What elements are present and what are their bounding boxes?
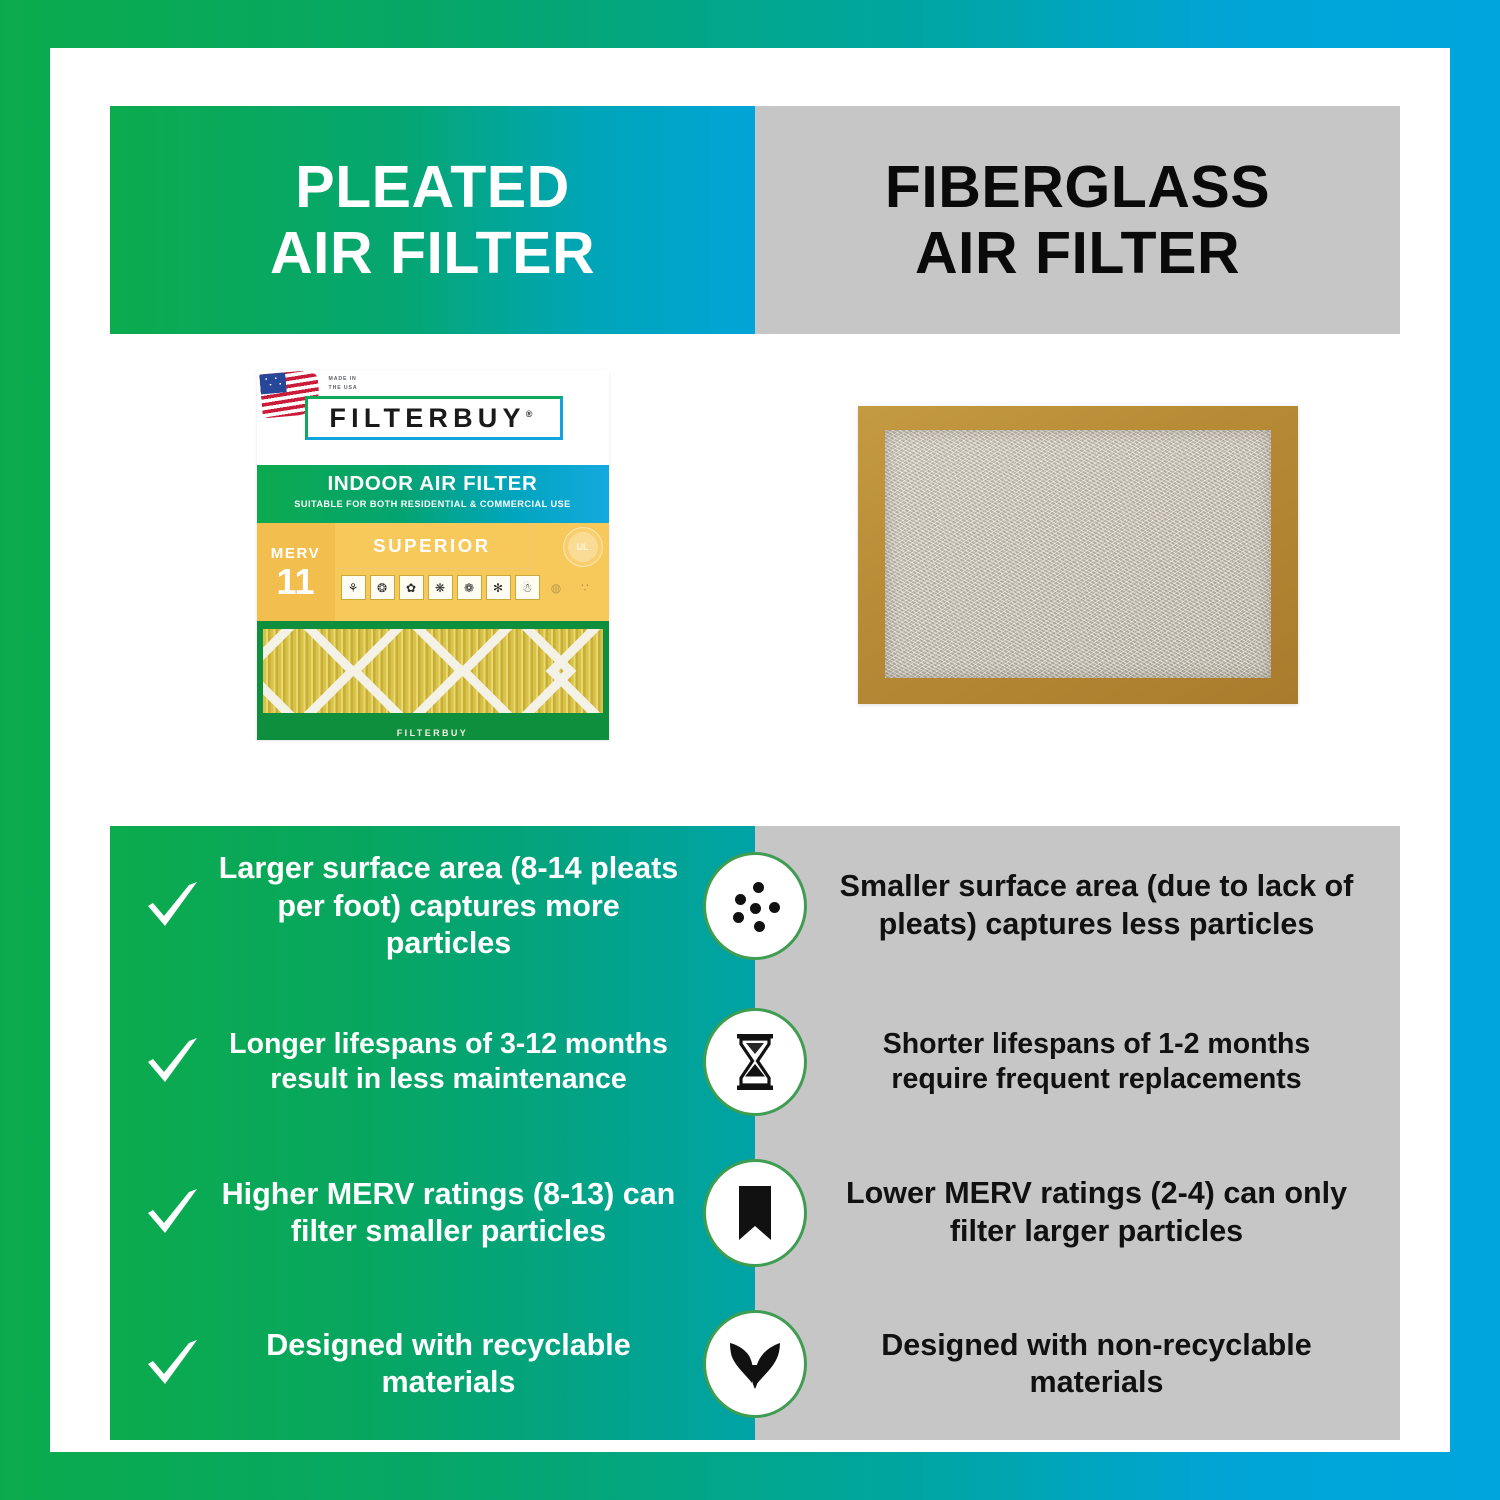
mold-spore-icon: ❋ bbox=[428, 575, 453, 600]
headers-row: PLEATED AIR FILTER FIBERGLASS AIR FILTER bbox=[110, 106, 1400, 334]
dots-group bbox=[723, 876, 787, 936]
capture-icons-row: ⚘ ❂ ✿ ❋ ❁ ✻ ☃ ◍ ∵ bbox=[341, 575, 598, 600]
leaf-sprout-icon bbox=[703, 1310, 807, 1418]
row1-fiberglass-cell: Smaller surface area (due to lack of ple… bbox=[755, 826, 1400, 986]
leaf-glyph bbox=[726, 1337, 784, 1391]
row4-fiberglass-cell: Designed with non-recyclable materials bbox=[755, 1289, 1400, 1440]
hourglass-glyph bbox=[732, 1032, 778, 1092]
outer-gradient-frame: PLEATED AIR FILTER FIBERGLASS AIR FILTER… bbox=[0, 0, 1500, 1500]
bacteria-icon: ❁ bbox=[457, 575, 482, 600]
pleated-media bbox=[263, 629, 603, 713]
pollen-icon: ✿ bbox=[399, 575, 424, 600]
fiberglass-product-cell bbox=[755, 334, 1400, 776]
grid-diamond bbox=[348, 629, 467, 713]
header-pleated-title: PLEATED AIR FILTER bbox=[270, 154, 595, 286]
package-spec-area: MERV 11 SUPERIOR UL ⚘ ❂ ✿ ❋ ❁ ✻ ☃ bbox=[257, 523, 609, 621]
table-row: Larger surface area (8-14 pleats per foo… bbox=[110, 826, 1400, 986]
merv-label: MERV bbox=[271, 545, 320, 562]
row3-pleated-text: Higher MERV ratings (8-13) can filter sm… bbox=[214, 1176, 683, 1250]
table-row: Designed with recyclable materials Desig… bbox=[110, 1289, 1400, 1440]
table-row: Higher MERV ratings (8-13) can filter sm… bbox=[110, 1138, 1400, 1289]
certification-seal-icon: UL bbox=[563, 527, 603, 567]
row4-pleated-cell: Designed with recyclable materials bbox=[110, 1289, 755, 1440]
row1-pleated-text: Larger surface area (8-14 pleats per foo… bbox=[214, 850, 683, 962]
fiberglass-filter-image bbox=[858, 406, 1298, 704]
brand-logo-text: FILTERBUY® bbox=[329, 403, 537, 434]
header-fiberglass: FIBERGLASS AIR FILTER bbox=[755, 106, 1400, 334]
product-images-row: MADE IN THE USA FILTERBUY® INDOOR AIR FI… bbox=[110, 334, 1400, 776]
row4-fiberglass-text: Designed with non-recyclable materials bbox=[833, 1327, 1360, 1403]
support-grid bbox=[263, 629, 603, 713]
particles-dots-icon bbox=[703, 852, 807, 960]
checkmark-icon bbox=[136, 876, 208, 936]
row3-pleated-cell: Higher MERV ratings (8-13) can filter sm… bbox=[110, 1138, 755, 1289]
package-footer-brand: FILTERBUY bbox=[257, 728, 609, 738]
package-subtitle: SUITABLE FOR BOTH RESIDENTIAL & COMMERCI… bbox=[257, 499, 609, 509]
table-row: Longer lifespans of 3-12 months result i… bbox=[110, 986, 1400, 1137]
bookmark-glyph bbox=[735, 1184, 775, 1242]
odor-icon: ∵ bbox=[573, 575, 598, 600]
checkmark-icon bbox=[136, 1183, 208, 1243]
row2-pleated-text: Longer lifespans of 3-12 months result i… bbox=[214, 1027, 683, 1097]
fiberglass-media bbox=[885, 430, 1271, 678]
pleated-product-cell: MADE IN THE USA FILTERBUY® INDOOR AIR FI… bbox=[110, 334, 755, 776]
row3-fiberglass-cell: Lower MERV ratings (2-4) can only filter… bbox=[755, 1138, 1400, 1289]
grid-diamond bbox=[545, 629, 602, 713]
pleated-filter-package-image: MADE IN THE USA FILTERBUY® INDOOR AIR FI… bbox=[257, 370, 609, 740]
virus-icon: ◍ bbox=[544, 575, 569, 600]
package-header-area: MADE IN THE USA FILTERBUY® bbox=[257, 370, 609, 465]
brand-logo-box: FILTERBUY® bbox=[305, 396, 563, 440]
row1-pleated-cell: Larger surface area (8-14 pleats per foo… bbox=[110, 826, 755, 986]
filter-media-preview: FILTERBUY bbox=[257, 621, 609, 740]
merv-badge: MERV 11 bbox=[257, 523, 335, 621]
made-in-usa-label: MADE IN THE USA bbox=[329, 375, 358, 393]
merv-value: 11 bbox=[276, 564, 314, 600]
row1-fiberglass-text: Smaller surface area (due to lack of ple… bbox=[833, 868, 1360, 944]
row3-fiberglass-text: Lower MERV ratings (2-4) can only filter… bbox=[833, 1175, 1360, 1251]
infographic-canvas: PLEATED AIR FILTER FIBERGLASS AIR FILTER… bbox=[50, 48, 1450, 1452]
package-title: INDOOR AIR FILTER bbox=[257, 472, 609, 496]
checkmark-icon bbox=[136, 1032, 208, 1092]
bookmark-ribbon-icon bbox=[703, 1159, 807, 1267]
grid-diamond bbox=[263, 629, 358, 713]
comparison-table: Larger surface area (8-14 pleats per foo… bbox=[110, 826, 1400, 1440]
checkmark-icon bbox=[136, 1334, 208, 1394]
hourglass-icon bbox=[703, 1008, 807, 1116]
row2-fiberglass-text: Shorter lifespans of 1-2 months require … bbox=[833, 1027, 1360, 1098]
package-title-band: INDOOR AIR FILTER SUITABLE FOR BOTH RESI… bbox=[257, 465, 609, 523]
row4-pleated-text: Designed with recyclable materials bbox=[214, 1327, 683, 1401]
dust-icon: ⚘ bbox=[341, 575, 366, 600]
insect-icon: ❂ bbox=[370, 575, 395, 600]
row2-pleated-cell: Longer lifespans of 3-12 months result i… bbox=[110, 986, 755, 1137]
pet-dander-icon: ✻ bbox=[486, 575, 511, 600]
row2-fiberglass-cell: Shorter lifespans of 1-2 months require … bbox=[755, 986, 1400, 1137]
tier-label: SUPERIOR bbox=[335, 523, 531, 569]
header-pleated: PLEATED AIR FILTER bbox=[110, 106, 755, 334]
header-fiberglass-title: FIBERGLASS AIR FILTER bbox=[885, 154, 1270, 286]
smoke-icon: ☃ bbox=[515, 575, 540, 600]
